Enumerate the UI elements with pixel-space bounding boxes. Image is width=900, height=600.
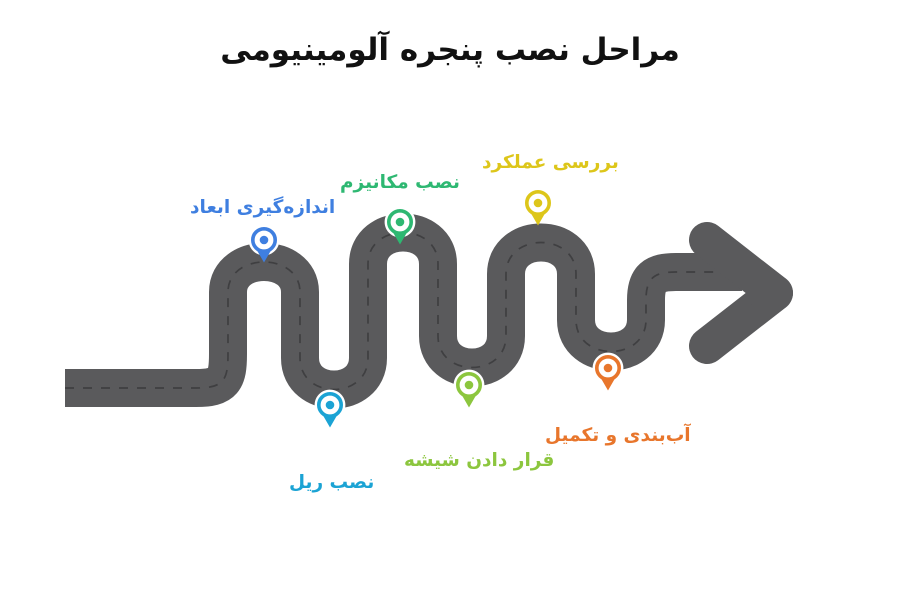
infographic-canvas: مراحل نصب پنجره آلومینیومی اندازه‌گیری ا… bbox=[0, 0, 900, 600]
forward-arrow-icon bbox=[707, 240, 775, 346]
map-pin-icon[interactable] bbox=[315, 390, 346, 428]
map-pin-icon[interactable] bbox=[523, 188, 554, 226]
pin-center-dot bbox=[604, 364, 613, 373]
map-pin-icon[interactable] bbox=[454, 370, 485, 408]
map-pin-icon[interactable] bbox=[593, 353, 624, 391]
pin-center-dot bbox=[326, 401, 335, 410]
step-label-6: آب‌بندی و تکمیل bbox=[545, 425, 691, 447]
roadmap-graphic bbox=[0, 0, 900, 600]
step-label-5: قرار دادن شیشه bbox=[404, 450, 554, 472]
step-label-4: نصب ریل bbox=[289, 472, 374, 494]
road-path bbox=[65, 233, 742, 390]
step-label-1: اندازه‌گیری ابعاد bbox=[190, 197, 335, 219]
pin-center-dot bbox=[396, 218, 405, 227]
pin-center-dot bbox=[534, 199, 543, 208]
pin-center-dot bbox=[260, 236, 269, 245]
step-label-3: بررسی عملکرد bbox=[482, 152, 619, 174]
pin-center-dot bbox=[465, 381, 474, 390]
step-label-2: نصب مکانیزم bbox=[340, 172, 460, 194]
road-path-group bbox=[65, 233, 742, 390]
